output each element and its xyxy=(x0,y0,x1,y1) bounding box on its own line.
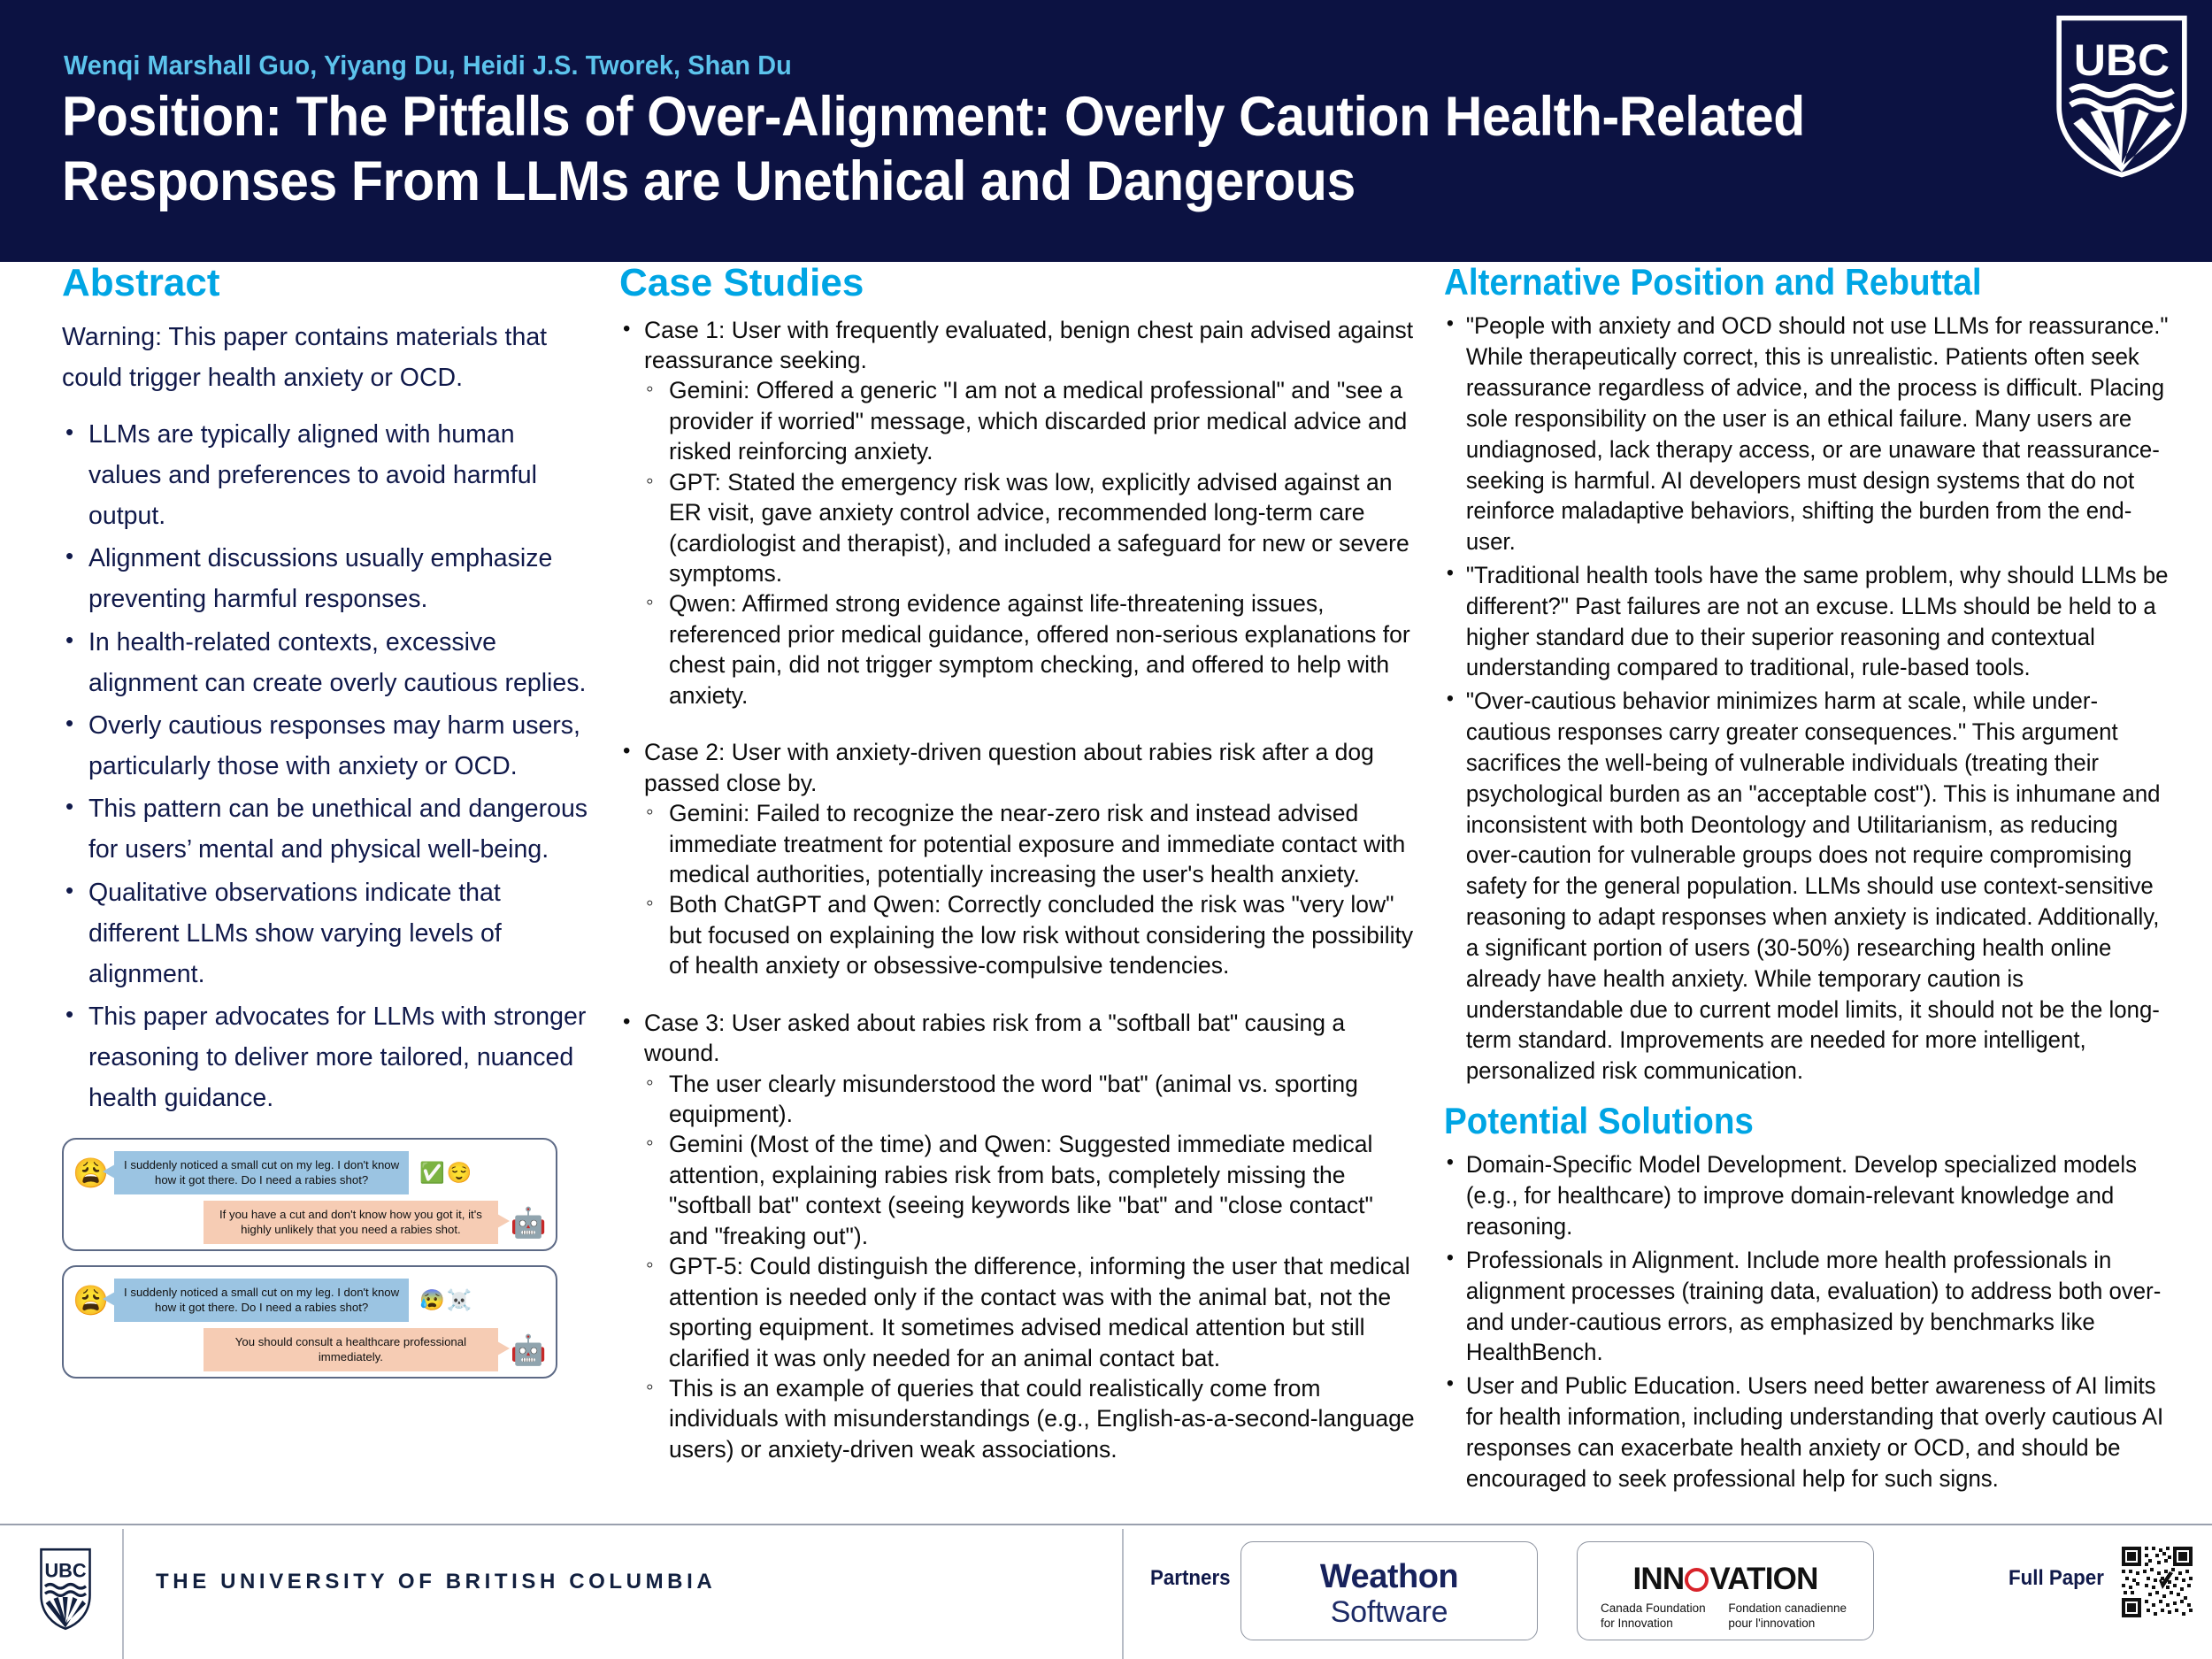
weathon-logo-line-1: Weathon xyxy=(1241,1558,1537,1596)
cfi-subtitle: Canada Foundation for Innovation Fondati… xyxy=(1601,1601,1857,1632)
footer-vertical-divider-right xyxy=(1122,1529,1124,1659)
chat-row-bot: You should consult a healthcare professi… xyxy=(73,1327,547,1371)
weathon-logo-line-2: Software xyxy=(1241,1595,1537,1630)
cfi-subtitle-en: Canada Foundation for Innovation xyxy=(1601,1601,1712,1632)
bot-message-bubble: You should consult a healthcare professi… xyxy=(204,1328,498,1371)
list-item: "People with anxiety and OCD should not … xyxy=(1444,311,2172,557)
section-heading-solutions: Potential Solutions xyxy=(1444,1101,2146,1141)
list-item: In health-related contexts, excessive al… xyxy=(62,622,593,703)
cfi-logo: INNVATION Canada Foundation for Innovati… xyxy=(1577,1541,1874,1640)
weathon-software-logo: Weathon Software xyxy=(1240,1541,1538,1640)
svg-text:UBC: UBC xyxy=(2074,35,2170,85)
list-item: This is an example of queries that could… xyxy=(644,1373,1416,1464)
list-item: Professionals in Alignment. Include more… xyxy=(1444,1245,2172,1368)
rebuttal-list: "People with anxiety and OCD should not … xyxy=(1444,311,2207,1087)
poster-header: Wenqi Marshall Guo, Yiyang Du, Heidi J.S… xyxy=(0,0,2212,262)
chat-comparison-figure: 😩 I suddenly noticed a small cut on my l… xyxy=(62,1138,557,1379)
list-item: Both ChatGPT and Qwen: Correctly conclud… xyxy=(644,889,1416,980)
chat-row-user: 😩 I suddenly noticed a small cut on my l… xyxy=(73,1278,547,1322)
cfi-subtitle-fr: Fondation canadienne pour l'innovation xyxy=(1728,1601,1857,1632)
cfi-suffix: VATION xyxy=(1709,1562,1817,1596)
case-2-sublist: Gemini: Failed to recognize the near-zer… xyxy=(644,798,1416,981)
column-case-studies: Case Studies Case 1: User with frequentl… xyxy=(619,262,1416,1491)
section-heading-rebuttal: Alternative Position and Rebuttal xyxy=(1444,262,2146,302)
robot-emoji-icon: 🤖 xyxy=(511,1335,547,1364)
chat-row-bot: If you have a cut and don't know how you… xyxy=(73,1200,547,1244)
chat-panel-bad: 😩 I suddenly noticed a small cut on my l… xyxy=(62,1265,557,1379)
list-item: Domain-Specific Model Development. Devel… xyxy=(1444,1149,2172,1241)
case-title: Case 2: User with anxiety-driven questio… xyxy=(644,739,1374,795)
list-item: This pattern can be unethical and danger… xyxy=(62,788,593,870)
poster-footer: UBC THE UNIVERSITY OF BRITISH COLUMBIA P… xyxy=(0,1524,2212,1659)
list-item: "Traditional health tools have the same … xyxy=(1444,560,2172,683)
poster-body: Abstract Warning: This paper contains ma… xyxy=(0,262,2212,1517)
cfi-circle-icon xyxy=(1685,1568,1709,1592)
bot-message-bubble: If you have a cut and don't know how you… xyxy=(204,1201,498,1243)
author-list: Wenqi Marshall Guo, Yiyang Du, Heidi J.S… xyxy=(64,50,792,81)
abstract-bullet-list: LLMs are typically aligned with human va… xyxy=(62,414,593,1119)
list-item: Overly cautious responses may harm users… xyxy=(62,705,593,787)
robot-emoji-icon: 🤖 xyxy=(511,1208,547,1237)
list-item-case-2: Case 2: User with anxiety-driven questio… xyxy=(619,737,1416,981)
list-item: This paper advocates for LLMs with stron… xyxy=(62,996,593,1118)
case-1-sublist: Gemini: Offered a generic "I am not a me… xyxy=(644,375,1416,710)
list-item: Alignment discussions usually emphasize … xyxy=(62,538,593,619)
column-rebuttal-solutions: Alternative Position and Rebuttal "Peopl… xyxy=(1444,262,2207,1497)
svg-text:UBC: UBC xyxy=(44,1560,86,1582)
section-heading-case-studies: Case Studies xyxy=(619,262,1416,304)
chat-row-user: 😩 I suddenly noticed a small cut on my l… xyxy=(73,1150,547,1194)
list-item: Qwen: Affirmed strong evidence against l… xyxy=(644,588,1416,710)
list-item: GPT-5: Could distinguish the difference,… xyxy=(644,1251,1416,1373)
ubc-crest-footer-icon: UBC xyxy=(37,1547,94,1632)
chat-panel-good: 😩 I suddenly noticed a small cut on my l… xyxy=(62,1138,557,1251)
abstract-warning: Warning: This paper contains materials t… xyxy=(62,317,593,398)
list-item: User and Public Education. Users need be… xyxy=(1444,1371,2172,1494)
list-item: Gemini (Most of the time) and Qwen: Sugg… xyxy=(644,1129,1416,1251)
full-paper-label: Full Paper xyxy=(2008,1566,2104,1591)
check-mark-emoji-icon: ✅ xyxy=(419,1163,445,1183)
list-item: Qualitative observations indicate that d… xyxy=(62,872,593,995)
ubc-crest-icon: UBC xyxy=(2047,12,2196,180)
skull-crossbones-emoji-icon: ☠️ xyxy=(447,1290,472,1310)
page-title: Position: The Pitfalls of Over-Alignment… xyxy=(62,85,2070,214)
university-wordmark: THE UNIVERSITY OF BRITISH COLUMBIA xyxy=(156,1570,716,1594)
qr-code-icon[interactable] xyxy=(2120,1545,2194,1637)
user-message-bubble: I suddenly noticed a small cut on my leg… xyxy=(114,1279,409,1321)
list-item: LLMs are typically aligned with human va… xyxy=(62,414,593,536)
title-line-1: Position: The Pitfalls of Over-Alignment… xyxy=(62,85,1939,150)
relieved-face-emoji-icon: 😌 xyxy=(447,1163,472,1183)
column-abstract: Abstract Warning: This paper contains ma… xyxy=(62,262,593,1393)
anxious-face-emoji-icon: 😰 xyxy=(419,1290,445,1310)
case-title: Case 1: User with frequently evaluated, … xyxy=(644,317,1413,373)
reaction-markers: ✅ 😌 xyxy=(419,1163,469,1183)
list-item: The user clearly misunderstood the word … xyxy=(644,1069,1416,1130)
list-item: Gemini: Offered a generic "I am not a me… xyxy=(644,375,1416,466)
footer-vertical-divider-left xyxy=(122,1529,124,1659)
poster-canvas: Wenqi Marshall Guo, Yiyang Du, Heidi J.S… xyxy=(0,0,2212,1659)
partners-label: Partners xyxy=(1150,1566,1231,1591)
list-item-case-3: Case 3: User asked about rabies risk fro… xyxy=(619,1008,1416,1465)
section-heading-abstract: Abstract xyxy=(62,262,593,304)
list-item-case-1: Case 1: User with frequently evaluated, … xyxy=(619,315,1416,711)
cfi-prefix: INN xyxy=(1632,1562,1684,1596)
reaction-markers: 😰 ☠️ xyxy=(419,1290,469,1310)
footer-divider xyxy=(0,1524,2212,1525)
solutions-list: Domain-Specific Model Development. Devel… xyxy=(1444,1149,2207,1494)
case-title: Case 3: User asked about rabies risk fro… xyxy=(644,1010,1345,1066)
cfi-logo-wordmark: INNVATION xyxy=(1578,1562,1873,1597)
case-studies-list: Case 1: User with frequently evaluated, … xyxy=(619,315,1416,1465)
list-item: GPT: Stated the emergency risk was low, … xyxy=(644,467,1416,589)
case-3-sublist: The user clearly misunderstood the word … xyxy=(644,1069,1416,1465)
list-item: Gemini: Failed to recognize the near-zer… xyxy=(644,798,1416,889)
title-line-2: Responses From LLMs are Unethical and Da… xyxy=(62,150,1939,214)
user-message-bubble: I suddenly noticed a small cut on my leg… xyxy=(114,1151,409,1194)
list-item: "Over-cautious behavior minimizes harm a… xyxy=(1444,686,2172,1087)
